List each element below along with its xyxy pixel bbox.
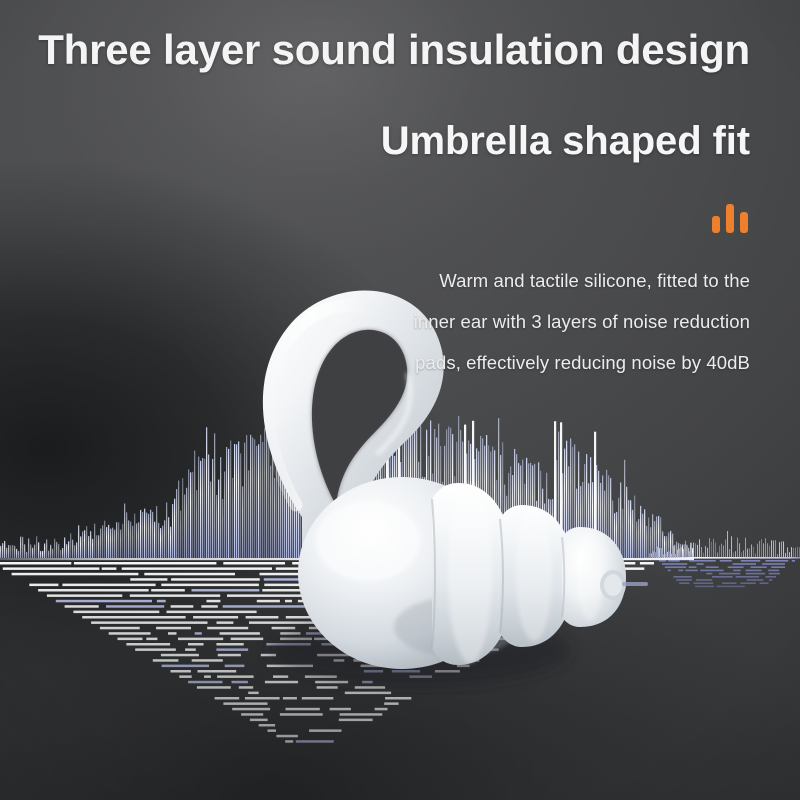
background-vignette [0,0,800,800]
product-poster: Three layer sound insulation design Umbr… [0,0,800,800]
